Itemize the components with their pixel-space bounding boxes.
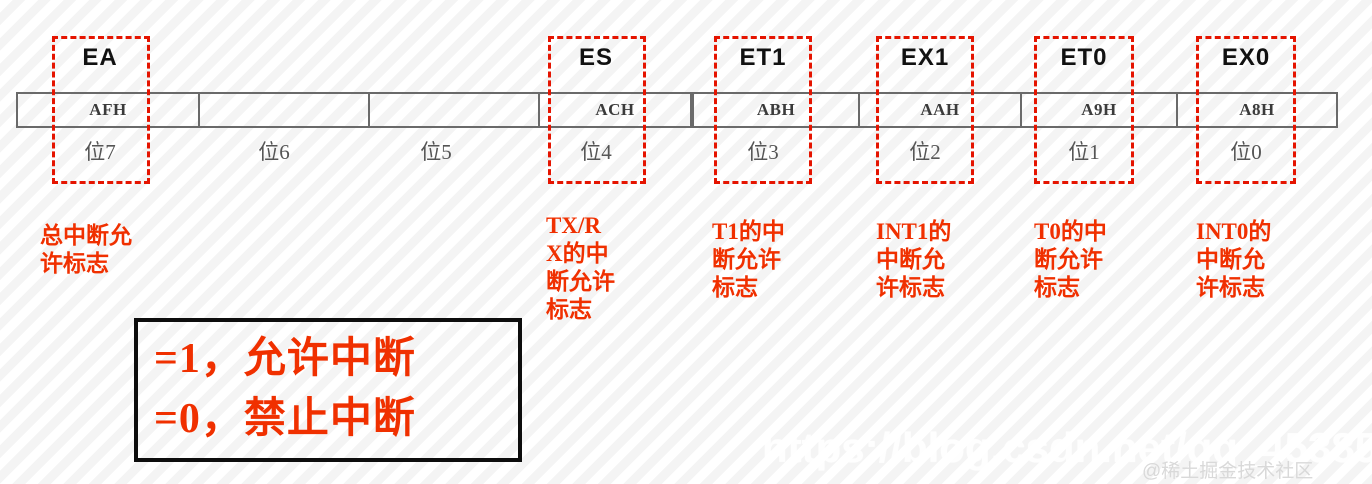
table-cell-bit3: ABH [694,94,860,126]
table-cell-bit7: AFH [18,94,200,126]
bit-position-7: 位7 [52,136,148,166]
bit-name-et1: ET1 [714,44,812,72]
annotation-ea: 总中断允 许标志 [40,222,260,278]
cell-address-bit7: AFH [89,100,126,120]
cell-address-bit2: AAH [920,100,959,120]
bit-position-5: 位5 [388,136,484,166]
watermark-brand: @稀土掘金技术社区 [1142,456,1313,483]
table-cell-bit6 [200,94,370,126]
legend-box: =1，允许中断 =0，禁止中断 [134,318,522,462]
ie-register-table: AFH ACH ABH AAH A9H A8H [16,92,1338,128]
table-cell-bit1: A9H [1022,94,1178,126]
bit-name-ea: EA [52,44,148,72]
bit-position-2: 位2 [876,136,974,166]
bit-position-4: 位4 [548,136,644,166]
bit-name-ex0: EX0 [1196,44,1296,72]
cell-address-bit0: A8H [1239,100,1275,120]
bit-name-es: ES [548,44,644,72]
cell-address-bit1: A9H [1081,100,1117,120]
annotation-ex0: INT0的 中断允 许标志 [1196,218,1326,302]
annotation-ex1: INT1的 中断允 许标志 [876,218,1000,302]
bit-name-ex1: EX1 [876,44,974,72]
table-cell-bit4: ACH [540,94,694,126]
legend-line-enable: =1，允许中断 [154,330,518,390]
table-cell-bit5 [370,94,540,126]
table-cell-bit2: AAH [860,94,1022,126]
annotation-es: TX/R X的中 断允许 标志 [546,212,652,324]
bit-position-1: 位1 [1034,136,1134,166]
table-cell-bit0: A8H [1178,94,1336,126]
legend-line-disable: =0，禁止中断 [154,390,518,450]
bit-position-0: 位0 [1196,136,1296,166]
diagram-canvas: AFH ACH ABH AAH A9H A8H EA ES ET1 EX1 ET… [0,0,1372,484]
cell-address-bit4: ACH [595,100,634,120]
cell-address-bit3: ABH [757,100,795,120]
bit-position-6: 位6 [226,136,322,166]
bit-name-et0: ET0 [1034,44,1134,72]
bit-position-3: 位3 [714,136,812,166]
annotation-et0: T0的中 断允许 标志 [1034,218,1154,302]
annotation-et1: T1的中 断允许 标志 [712,218,828,302]
